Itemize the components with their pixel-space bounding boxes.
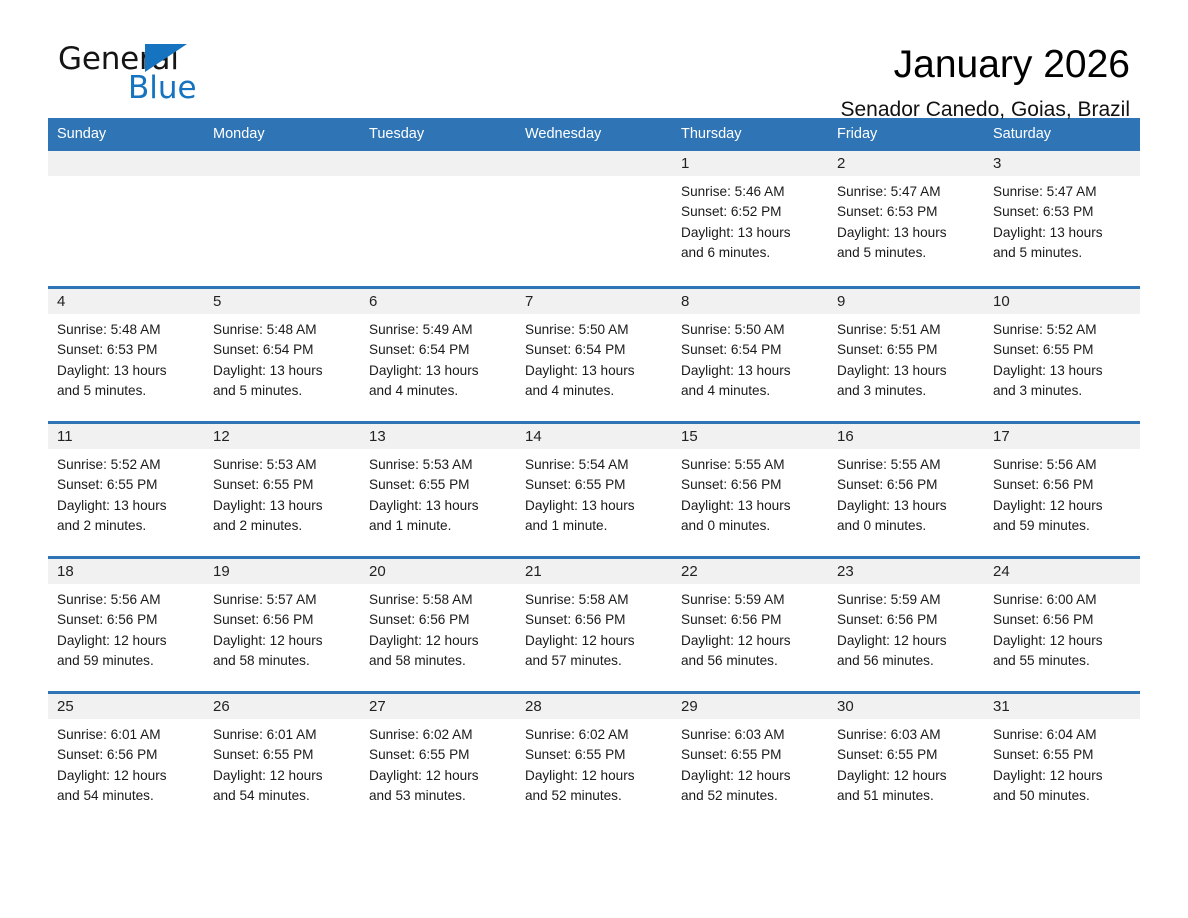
calendar-day-cell[interactable]: 22Sunrise: 5:59 AMSunset: 6:56 PMDayligh…	[672, 559, 828, 691]
calendar-day-cell[interactable]: 6Sunrise: 5:49 AMSunset: 6:54 PMDaylight…	[360, 289, 516, 421]
page-title: January 2026	[841, 42, 1131, 88]
day-number: 18	[48, 559, 204, 584]
day-details: Sunrise: 5:58 AMSunset: 6:56 PMDaylight:…	[360, 584, 516, 671]
daylight-text-line2: and 5 minutes.	[213, 381, 354, 401]
sunrise-text: Sunrise: 6:02 AM	[525, 725, 666, 745]
day-number: 11	[48, 424, 204, 449]
daylight-text-line2: and 4 minutes.	[681, 381, 822, 401]
day-number: 26	[204, 694, 360, 719]
daylight-text-line1: Daylight: 12 hours	[525, 631, 666, 651]
day-details: Sunrise: 5:57 AMSunset: 6:56 PMDaylight:…	[204, 584, 360, 671]
daylight-text-line1: Daylight: 13 hours	[525, 496, 666, 516]
daylight-text-line2: and 2 minutes.	[57, 516, 198, 536]
weekday-header-wednesday: Wednesday	[516, 118, 672, 151]
daylight-text-line2: and 51 minutes.	[837, 786, 978, 806]
weekday-header-friday: Friday	[828, 118, 984, 151]
daylight-text-line2: and 5 minutes.	[993, 243, 1134, 263]
sunset-text: Sunset: 6:56 PM	[57, 745, 198, 765]
day-number: 1	[672, 151, 828, 176]
sunrise-text: Sunrise: 5:56 AM	[993, 455, 1134, 475]
day-details: Sunrise: 5:56 AMSunset: 6:56 PMDaylight:…	[984, 449, 1140, 536]
day-number: 10	[984, 289, 1140, 314]
calendar-day-cell[interactable]: 8Sunrise: 5:50 AMSunset: 6:54 PMDaylight…	[672, 289, 828, 421]
day-number: 12	[204, 424, 360, 449]
calendar-day-cell[interactable]: 20Sunrise: 5:58 AMSunset: 6:56 PMDayligh…	[360, 559, 516, 691]
day-number	[48, 151, 204, 176]
daylight-text-line1: Daylight: 12 hours	[525, 766, 666, 786]
daylight-text-line2: and 58 minutes.	[213, 651, 354, 671]
calendar-week-row: 11Sunrise: 5:52 AMSunset: 6:55 PMDayligh…	[48, 421, 1140, 556]
day-details: Sunrise: 6:03 AMSunset: 6:55 PMDaylight:…	[828, 719, 984, 806]
calendar-day-cell[interactable]: 19Sunrise: 5:57 AMSunset: 6:56 PMDayligh…	[204, 559, 360, 691]
calendar-day-cell[interactable]: 2Sunrise: 5:47 AMSunset: 6:53 PMDaylight…	[828, 151, 984, 286]
sunset-text: Sunset: 6:55 PM	[213, 745, 354, 765]
day-number: 6	[360, 289, 516, 314]
day-details: Sunrise: 5:49 AMSunset: 6:54 PMDaylight:…	[360, 314, 516, 401]
sunset-text: Sunset: 6:54 PM	[525, 340, 666, 360]
day-number: 25	[48, 694, 204, 719]
calendar-grid: Sunday Monday Tuesday Wednesday Thursday…	[48, 118, 1140, 826]
calendar-week-row: 25Sunrise: 6:01 AMSunset: 6:56 PMDayligh…	[48, 691, 1140, 826]
sunrise-text: Sunrise: 6:01 AM	[213, 725, 354, 745]
daylight-text-line2: and 52 minutes.	[525, 786, 666, 806]
day-details: Sunrise: 5:59 AMSunset: 6:56 PMDaylight:…	[672, 584, 828, 671]
sunrise-text: Sunrise: 5:53 AM	[369, 455, 510, 475]
day-details: Sunrise: 5:53 AMSunset: 6:55 PMDaylight:…	[360, 449, 516, 536]
calendar-day-cell[interactable]: 11Sunrise: 5:52 AMSunset: 6:55 PMDayligh…	[48, 424, 204, 556]
day-number	[516, 151, 672, 176]
daylight-text-line2: and 1 minute.	[369, 516, 510, 536]
calendar-page: General Blue January 2026 Senador Canedo…	[0, 0, 1188, 918]
sunrise-text: Sunrise: 6:03 AM	[837, 725, 978, 745]
daylight-text-line1: Daylight: 12 hours	[213, 631, 354, 651]
daylight-text-line2: and 56 minutes.	[837, 651, 978, 671]
sunrise-text: Sunrise: 5:47 AM	[993, 182, 1134, 202]
calendar-day-cell[interactable]: 16Sunrise: 5:55 AMSunset: 6:56 PMDayligh…	[828, 424, 984, 556]
sunset-text: Sunset: 6:53 PM	[57, 340, 198, 360]
day-number: 23	[828, 559, 984, 584]
daylight-text-line2: and 2 minutes.	[213, 516, 354, 536]
day-number: 17	[984, 424, 1140, 449]
daylight-text-line2: and 3 minutes.	[993, 381, 1134, 401]
daylight-text-line1: Daylight: 12 hours	[837, 766, 978, 786]
daylight-text-line1: Daylight: 13 hours	[525, 361, 666, 381]
day-number: 29	[672, 694, 828, 719]
sunrise-text: Sunrise: 5:58 AM	[369, 590, 510, 610]
sunrise-text: Sunrise: 5:48 AM	[57, 320, 198, 340]
day-number: 7	[516, 289, 672, 314]
sunrise-text: Sunrise: 5:51 AM	[837, 320, 978, 340]
calendar-day-cell[interactable]: 12Sunrise: 5:53 AMSunset: 6:55 PMDayligh…	[204, 424, 360, 556]
calendar-day-cell[interactable]: 4Sunrise: 5:48 AMSunset: 6:53 PMDaylight…	[48, 289, 204, 421]
sunrise-text: Sunrise: 5:46 AM	[681, 182, 822, 202]
weekday-header-sunday: Sunday	[48, 118, 204, 151]
day-number: 30	[828, 694, 984, 719]
daylight-text-line2: and 6 minutes.	[681, 243, 822, 263]
sunset-text: Sunset: 6:56 PM	[837, 610, 978, 630]
sunset-text: Sunset: 6:53 PM	[993, 202, 1134, 222]
calendar-day-cell[interactable]: 7Sunrise: 5:50 AMSunset: 6:54 PMDaylight…	[516, 289, 672, 421]
day-number: 14	[516, 424, 672, 449]
sunset-text: Sunset: 6:54 PM	[369, 340, 510, 360]
day-number: 5	[204, 289, 360, 314]
sunset-text: Sunset: 6:53 PM	[837, 202, 978, 222]
calendar-day-cell[interactable]: 17Sunrise: 5:56 AMSunset: 6:56 PMDayligh…	[984, 424, 1140, 556]
calendar-day-cell[interactable]: 21Sunrise: 5:58 AMSunset: 6:56 PMDayligh…	[516, 559, 672, 691]
calendar-day-cell[interactable]: 5Sunrise: 5:48 AMSunset: 6:54 PMDaylight…	[204, 289, 360, 421]
sunset-text: Sunset: 6:54 PM	[213, 340, 354, 360]
sunrise-text: Sunrise: 5:52 AM	[57, 455, 198, 475]
sunrise-text: Sunrise: 5:52 AM	[993, 320, 1134, 340]
weekday-header-thursday: Thursday	[672, 118, 828, 151]
day-number	[204, 151, 360, 176]
calendar-day-cell[interactable]: 1Sunrise: 5:46 AMSunset: 6:52 PMDaylight…	[672, 151, 828, 286]
calendar-cell-empty	[204, 151, 360, 286]
daylight-text-line1: Daylight: 13 hours	[837, 223, 978, 243]
calendar-cell-empty	[516, 151, 672, 286]
day-number: 27	[360, 694, 516, 719]
daylight-text-line2: and 50 minutes.	[993, 786, 1134, 806]
sunset-text: Sunset: 6:55 PM	[57, 475, 198, 495]
sunset-text: Sunset: 6:56 PM	[837, 475, 978, 495]
day-details: Sunrise: 6:00 AMSunset: 6:56 PMDaylight:…	[984, 584, 1140, 671]
day-details: Sunrise: 5:53 AMSunset: 6:55 PMDaylight:…	[204, 449, 360, 536]
day-details: Sunrise: 5:50 AMSunset: 6:54 PMDaylight:…	[672, 314, 828, 401]
day-number: 13	[360, 424, 516, 449]
sunrise-text: Sunrise: 5:50 AM	[681, 320, 822, 340]
daylight-text-line1: Daylight: 13 hours	[213, 496, 354, 516]
calendar-day-cell[interactable]: 3Sunrise: 5:47 AMSunset: 6:53 PMDaylight…	[984, 151, 1140, 286]
day-details: Sunrise: 5:52 AMSunset: 6:55 PMDaylight:…	[984, 314, 1140, 401]
day-details: Sunrise: 5:55 AMSunset: 6:56 PMDaylight:…	[828, 449, 984, 536]
sunset-text: Sunset: 6:56 PM	[681, 610, 822, 630]
daylight-text-line1: Daylight: 13 hours	[993, 361, 1134, 381]
daylight-text-line2: and 3 minutes.	[837, 381, 978, 401]
daylight-text-line1: Daylight: 12 hours	[681, 631, 822, 651]
day-number: 3	[984, 151, 1140, 176]
daylight-text-line2: and 0 minutes.	[681, 516, 822, 536]
daylight-text-line1: Daylight: 13 hours	[369, 361, 510, 381]
calendar-day-cell[interactable]: 27Sunrise: 6:02 AMSunset: 6:55 PMDayligh…	[360, 694, 516, 826]
day-number: 9	[828, 289, 984, 314]
daylight-text-line1: Daylight: 12 hours	[213, 766, 354, 786]
day-details: Sunrise: 6:02 AMSunset: 6:55 PMDaylight:…	[360, 719, 516, 806]
day-details: Sunrise: 5:47 AMSunset: 6:53 PMDaylight:…	[984, 176, 1140, 263]
sunrise-text: Sunrise: 6:02 AM	[369, 725, 510, 745]
calendar-week-row: 1Sunrise: 5:46 AMSunset: 6:52 PMDaylight…	[48, 151, 1140, 286]
sunset-text: Sunset: 6:54 PM	[681, 340, 822, 360]
calendar-day-cell[interactable]: 24Sunrise: 6:00 AMSunset: 6:56 PMDayligh…	[984, 559, 1140, 691]
daylight-text-line1: Daylight: 12 hours	[993, 496, 1134, 516]
daylight-text-line2: and 56 minutes.	[681, 651, 822, 671]
daylight-text-line2: and 57 minutes.	[525, 651, 666, 671]
calendar-day-cell[interactable]: 9Sunrise: 5:51 AMSunset: 6:55 PMDaylight…	[828, 289, 984, 421]
weekday-header-row: Sunday Monday Tuesday Wednesday Thursday…	[48, 118, 1140, 151]
daylight-text-line1: Daylight: 12 hours	[57, 631, 198, 651]
day-number: 19	[204, 559, 360, 584]
day-number: 8	[672, 289, 828, 314]
sunrise-text: Sunrise: 5:54 AM	[525, 455, 666, 475]
page-header: General Blue January 2026 Senador Canedo…	[48, 0, 1140, 104]
daylight-text-line1: Daylight: 12 hours	[681, 766, 822, 786]
daylight-text-line1: Daylight: 13 hours	[681, 223, 822, 243]
daylight-text-line2: and 5 minutes.	[57, 381, 198, 401]
calendar-day-cell[interactable]: 28Sunrise: 6:02 AMSunset: 6:55 PMDayligh…	[516, 694, 672, 826]
calendar-cell-empty	[48, 151, 204, 286]
sunrise-text: Sunrise: 5:57 AM	[213, 590, 354, 610]
daylight-text-line1: Daylight: 12 hours	[837, 631, 978, 651]
day-details: Sunrise: 5:52 AMSunset: 6:55 PMDaylight:…	[48, 449, 204, 536]
daylight-text-line2: and 54 minutes.	[213, 786, 354, 806]
daylight-text-line1: Daylight: 13 hours	[369, 496, 510, 516]
daylight-text-line1: Daylight: 12 hours	[369, 631, 510, 651]
daylight-text-line1: Daylight: 12 hours	[57, 766, 198, 786]
day-number: 2	[828, 151, 984, 176]
day-details: Sunrise: 5:47 AMSunset: 6:53 PMDaylight:…	[828, 176, 984, 263]
day-details: Sunrise: 6:02 AMSunset: 6:55 PMDaylight:…	[516, 719, 672, 806]
sunset-text: Sunset: 6:55 PM	[525, 745, 666, 765]
day-details: Sunrise: 5:48 AMSunset: 6:53 PMDaylight:…	[48, 314, 204, 401]
daylight-text-line2: and 4 minutes.	[369, 381, 510, 401]
day-details: Sunrise: 6:04 AMSunset: 6:55 PMDaylight:…	[984, 719, 1140, 806]
day-number	[360, 151, 516, 176]
daylight-text-line1: Daylight: 13 hours	[837, 361, 978, 381]
daylight-text-line1: Daylight: 12 hours	[369, 766, 510, 786]
day-number: 21	[516, 559, 672, 584]
day-details: Sunrise: 6:03 AMSunset: 6:55 PMDaylight:…	[672, 719, 828, 806]
calendar-day-cell[interactable]: 25Sunrise: 6:01 AMSunset: 6:56 PMDayligh…	[48, 694, 204, 826]
day-details: Sunrise: 6:01 AMSunset: 6:55 PMDaylight:…	[204, 719, 360, 806]
daylight-text-line2: and 59 minutes.	[993, 516, 1134, 536]
day-number: 31	[984, 694, 1140, 719]
sunrise-text: Sunrise: 5:49 AM	[369, 320, 510, 340]
day-details: Sunrise: 5:50 AMSunset: 6:54 PMDaylight:…	[516, 314, 672, 401]
daylight-text-line1: Daylight: 13 hours	[213, 361, 354, 381]
daylight-text-line2: and 55 minutes.	[993, 651, 1134, 671]
sunrise-text: Sunrise: 6:04 AM	[993, 725, 1134, 745]
sunrise-text: Sunrise: 5:55 AM	[681, 455, 822, 475]
weekday-header-saturday: Saturday	[984, 118, 1140, 151]
daylight-text-line2: and 0 minutes.	[837, 516, 978, 536]
daylight-text-line2: and 53 minutes.	[369, 786, 510, 806]
sunset-text: Sunset: 6:56 PM	[993, 610, 1134, 630]
day-details: Sunrise: 5:56 AMSunset: 6:56 PMDaylight:…	[48, 584, 204, 671]
sunset-text: Sunset: 6:56 PM	[525, 610, 666, 630]
daylight-text-line1: Daylight: 13 hours	[681, 496, 822, 516]
weekday-header-monday: Monday	[204, 118, 360, 151]
sunset-text: Sunset: 6:55 PM	[213, 475, 354, 495]
sunset-text: Sunset: 6:56 PM	[681, 475, 822, 495]
sunrise-text: Sunrise: 6:03 AM	[681, 725, 822, 745]
calendar-day-cell[interactable]: 30Sunrise: 6:03 AMSunset: 6:55 PMDayligh…	[828, 694, 984, 826]
day-number: 24	[984, 559, 1140, 584]
day-details: Sunrise: 6:01 AMSunset: 6:56 PMDaylight:…	[48, 719, 204, 806]
sunset-text: Sunset: 6:55 PM	[369, 745, 510, 765]
calendar-day-cell[interactable]: 14Sunrise: 5:54 AMSunset: 6:55 PMDayligh…	[516, 424, 672, 556]
day-number: 15	[672, 424, 828, 449]
day-details: Sunrise: 5:46 AMSunset: 6:52 PMDaylight:…	[672, 176, 828, 263]
sunset-text: Sunset: 6:56 PM	[213, 610, 354, 630]
day-details: Sunrise: 5:59 AMSunset: 6:56 PMDaylight:…	[828, 584, 984, 671]
daylight-text-line2: and 4 minutes.	[525, 381, 666, 401]
calendar-day-cell[interactable]: 18Sunrise: 5:56 AMSunset: 6:56 PMDayligh…	[48, 559, 204, 691]
sunrise-text: Sunrise: 5:47 AM	[837, 182, 978, 202]
sunset-text: Sunset: 6:55 PM	[369, 475, 510, 495]
calendar-day-cell[interactable]: 31Sunrise: 6:04 AMSunset: 6:55 PMDayligh…	[984, 694, 1140, 826]
title-block: January 2026 Senador Canedo, Goias, Braz…	[841, 42, 1141, 124]
weekday-header-tuesday: Tuesday	[360, 118, 516, 151]
calendar-day-cell[interactable]: 10Sunrise: 5:52 AMSunset: 6:55 PMDayligh…	[984, 289, 1140, 421]
sunrise-text: Sunrise: 5:59 AM	[681, 590, 822, 610]
daylight-text-line2: and 58 minutes.	[369, 651, 510, 671]
triangle-icon	[145, 44, 187, 72]
calendar-day-cell[interactable]: 23Sunrise: 5:59 AMSunset: 6:56 PMDayligh…	[828, 559, 984, 691]
sunrise-text: Sunrise: 5:58 AM	[525, 590, 666, 610]
sunrise-text: Sunrise: 6:01 AM	[57, 725, 198, 745]
daylight-text-line2: and 5 minutes.	[837, 243, 978, 263]
day-number: 20	[360, 559, 516, 584]
day-details: Sunrise: 5:51 AMSunset: 6:55 PMDaylight:…	[828, 314, 984, 401]
day-details: Sunrise: 5:58 AMSunset: 6:56 PMDaylight:…	[516, 584, 672, 671]
daylight-text-line1: Daylight: 13 hours	[57, 361, 198, 381]
daylight-text-line2: and 52 minutes.	[681, 786, 822, 806]
sunrise-text: Sunrise: 5:55 AM	[837, 455, 978, 475]
sunset-text: Sunset: 6:52 PM	[681, 202, 822, 222]
calendar-cell-empty	[360, 151, 516, 286]
sunset-text: Sunset: 6:55 PM	[993, 340, 1134, 360]
sunset-text: Sunset: 6:55 PM	[993, 745, 1134, 765]
daylight-text-line1: Daylight: 13 hours	[837, 496, 978, 516]
calendar-weeks: 1Sunrise: 5:46 AMSunset: 6:52 PMDaylight…	[48, 151, 1140, 826]
daylight-text-line1: Daylight: 13 hours	[993, 223, 1134, 243]
day-details: Sunrise: 5:55 AMSunset: 6:56 PMDaylight:…	[672, 449, 828, 536]
day-details: Sunrise: 5:54 AMSunset: 6:55 PMDaylight:…	[516, 449, 672, 536]
calendar-day-cell[interactable]: 26Sunrise: 6:01 AMSunset: 6:55 PMDayligh…	[204, 694, 360, 826]
sunset-text: Sunset: 6:56 PM	[57, 610, 198, 630]
calendar-day-cell[interactable]: 13Sunrise: 5:53 AMSunset: 6:55 PMDayligh…	[360, 424, 516, 556]
daylight-text-line2: and 54 minutes.	[57, 786, 198, 806]
daylight-text-line1: Daylight: 13 hours	[681, 361, 822, 381]
daylight-text-line1: Daylight: 12 hours	[993, 631, 1134, 651]
sunset-text: Sunset: 6:55 PM	[681, 745, 822, 765]
sunset-text: Sunset: 6:55 PM	[837, 745, 978, 765]
sunset-text: Sunset: 6:56 PM	[369, 610, 510, 630]
sunset-text: Sunset: 6:56 PM	[993, 475, 1134, 495]
sunrise-text: Sunrise: 5:50 AM	[525, 320, 666, 340]
sunset-text: Sunset: 6:55 PM	[525, 475, 666, 495]
sunrise-text: Sunrise: 5:59 AM	[837, 590, 978, 610]
sunrise-text: Sunrise: 5:56 AM	[57, 590, 198, 610]
sunrise-text: Sunrise: 6:00 AM	[993, 590, 1134, 610]
day-details: Sunrise: 5:48 AMSunset: 6:54 PMDaylight:…	[204, 314, 360, 401]
sunset-text: Sunset: 6:55 PM	[837, 340, 978, 360]
day-number: 16	[828, 424, 984, 449]
calendar-week-row: 4Sunrise: 5:48 AMSunset: 6:53 PMDaylight…	[48, 286, 1140, 421]
brand-logo[interactable]: General Blue	[48, 42, 248, 118]
calendar-week-row: 18Sunrise: 5:56 AMSunset: 6:56 PMDayligh…	[48, 556, 1140, 691]
daylight-text-line2: and 59 minutes.	[57, 651, 198, 671]
day-number: 28	[516, 694, 672, 719]
daylight-text-line1: Daylight: 12 hours	[993, 766, 1134, 786]
brand-name-blue: Blue	[128, 72, 248, 104]
calendar-day-cell[interactable]: 15Sunrise: 5:55 AMSunset: 6:56 PMDayligh…	[672, 424, 828, 556]
day-number: 22	[672, 559, 828, 584]
sunrise-text: Sunrise: 5:48 AM	[213, 320, 354, 340]
daylight-text-line2: and 1 minute.	[525, 516, 666, 536]
daylight-text-line1: Daylight: 13 hours	[57, 496, 198, 516]
calendar-day-cell[interactable]: 29Sunrise: 6:03 AMSunset: 6:55 PMDayligh…	[672, 694, 828, 826]
day-number: 4	[48, 289, 204, 314]
sunrise-text: Sunrise: 5:53 AM	[213, 455, 354, 475]
